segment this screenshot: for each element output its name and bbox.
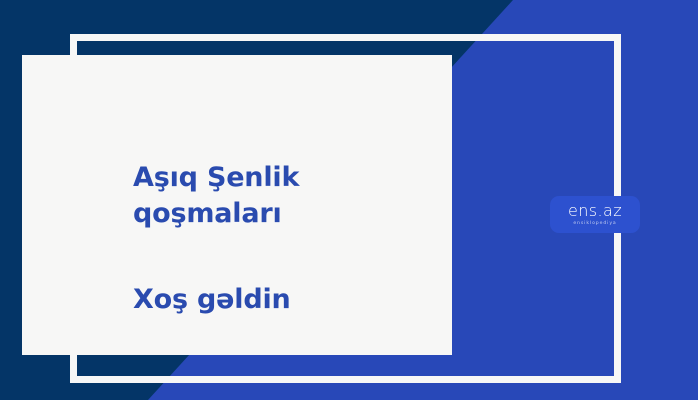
brand-logo-badge[interactable]: ens.az ensiklopediya (550, 196, 640, 233)
slide-canvas: Aşıq Şenlik qoşmaları Xoş gəldin ens.az … (0, 0, 698, 400)
brand-wordmark: ens.az (568, 203, 622, 219)
content-panel: Aşıq Şenlik qoşmaları Xoş gəldin (22, 55, 452, 355)
page-title: Aşıq Şenlik qoşmaları (133, 160, 453, 232)
welcome-message: Xoş gəldin (133, 282, 453, 318)
brand-tagline: ensiklopediya (573, 222, 616, 227)
panel-text-block: Aşıq Şenlik qoşmaları Xoş gəldin (133, 160, 453, 318)
